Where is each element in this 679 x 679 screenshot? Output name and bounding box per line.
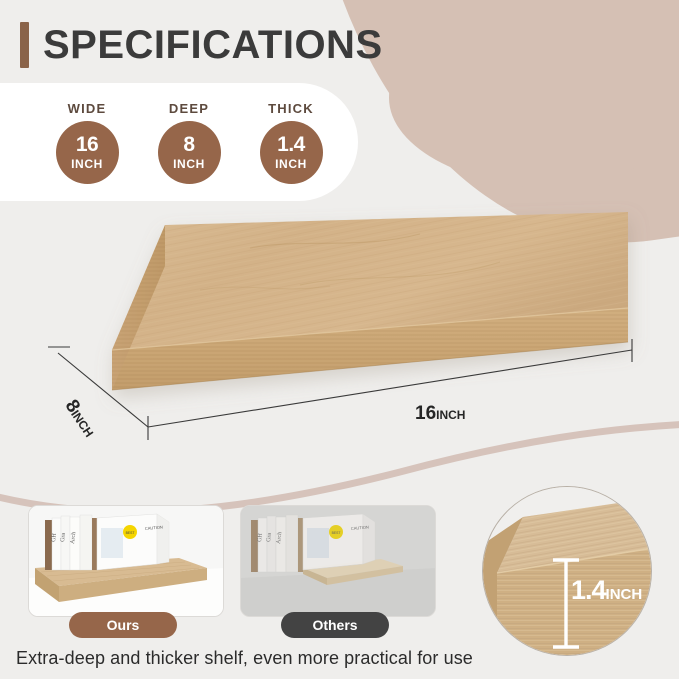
spec-unit-thick: INCH xyxy=(275,158,307,170)
page-title: SPECIFICATIONS xyxy=(43,23,383,68)
dimension-label-length: 16INCH xyxy=(415,403,465,425)
spec-circle-deep: 8 INCH xyxy=(158,121,221,184)
others-scene: BEST CAUTION GH Gra Arch xyxy=(241,506,436,617)
comparison-panel-ours: BEST CAUTION GH Gra Arch xyxy=(28,505,224,617)
spec-value-wide: 16 xyxy=(76,134,98,155)
ours-scene: BEST CAUTION GH Gra Arch xyxy=(29,506,224,617)
spec-circle-wide: 16 INCH xyxy=(56,121,119,184)
spec-item-wide: WIDE 16 INCH xyxy=(48,101,126,184)
thickness-scene xyxy=(483,487,652,656)
thickness-label: 1.4INCH xyxy=(571,575,642,606)
svg-text:Arch: Arch xyxy=(70,532,77,545)
spec-item-thick: THICK 1.4 INCH xyxy=(252,101,330,184)
shelf-hero-illustration xyxy=(0,190,679,480)
thickness-value: 1.4 xyxy=(571,575,606,605)
comparison-label-others: Others xyxy=(312,617,357,633)
specification-card: WIDE 16 INCH DEEP 8 INCH THICK 1.4 INCH xyxy=(0,83,358,201)
ours-books: BEST CAUTION GH Gra Arch xyxy=(45,514,169,570)
spec-label-deep: DEEP xyxy=(169,101,209,116)
svg-text:GH: GH xyxy=(257,532,264,542)
page-header: SPECIFICATIONS xyxy=(20,22,383,68)
svg-text:Arch: Arch xyxy=(276,532,283,545)
svg-text:GH: GH xyxy=(51,532,58,542)
svg-text:BEST: BEST xyxy=(332,531,341,535)
thickness-detail-panel: 1.4INCH xyxy=(482,486,652,656)
spec-item-deep: DEEP 8 INCH xyxy=(150,101,228,184)
others-books: BEST CAUTION GH Gra Arch xyxy=(251,514,375,572)
title-accent-bar xyxy=(20,22,29,68)
thickness-unit: INCH xyxy=(606,586,643,603)
dimension-value-length: 16 xyxy=(415,403,436,424)
spec-label-thick: THICK xyxy=(268,101,314,116)
comparison-pill-ours: Ours xyxy=(69,612,177,638)
spec-unit-deep: INCH xyxy=(173,158,205,170)
specification-infographic: SPECIFICATIONS WIDE 16 INCH DEEP 8 INCH … xyxy=(0,0,679,679)
comparison-label-ours: Ours xyxy=(107,617,140,633)
spec-unit-wide: INCH xyxy=(71,158,103,170)
spec-value-deep: 8 xyxy=(183,134,194,155)
svg-text:Gra: Gra xyxy=(60,532,67,542)
dimension-unit-length: INCH xyxy=(436,408,465,422)
comparison-panel-others: BEST CAUTION GH Gra Arch xyxy=(240,505,436,617)
background-blob-top-right-secondary xyxy=(389,0,679,190)
spec-label-wide: WIDE xyxy=(68,101,107,116)
footer-caption: Extra-deep and thicker shelf, even more … xyxy=(16,648,473,669)
spec-circle-thick: 1.4 INCH xyxy=(260,121,323,184)
spec-value-thick: 1.4 xyxy=(277,134,305,155)
svg-text:BEST: BEST xyxy=(126,531,135,535)
comparison-pill-others: Others xyxy=(281,612,389,638)
svg-text:Gra: Gra xyxy=(266,532,273,542)
